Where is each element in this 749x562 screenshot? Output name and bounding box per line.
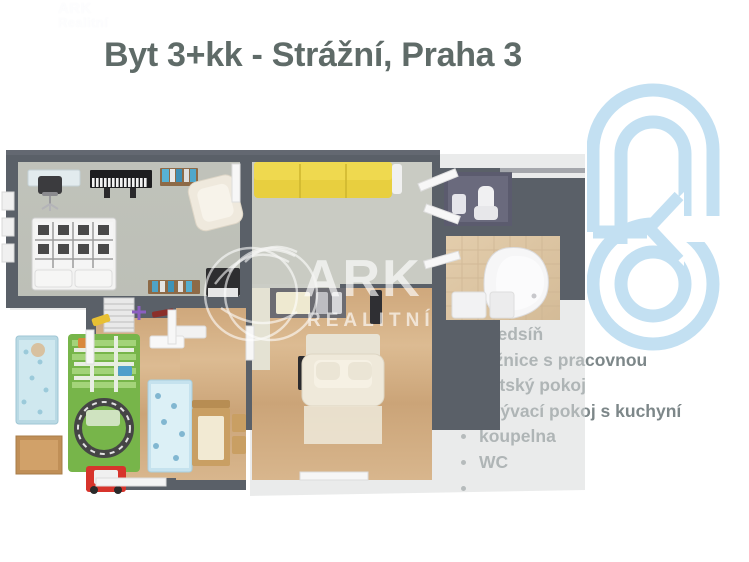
property-listing-image: ARK Realitní Byt 3+kk - Strážní, Praha 3 — [0, 0, 749, 562]
floorplan-image — [0, 140, 585, 500]
brand-watermark: ARK Realitní — [58, 2, 154, 32]
brand-watermark-line2: Realitní — [58, 16, 154, 30]
ark-logo-icon — [587, 54, 749, 354]
page-title: Byt 3+kk - Strážní, Praha 3 — [104, 36, 522, 75]
